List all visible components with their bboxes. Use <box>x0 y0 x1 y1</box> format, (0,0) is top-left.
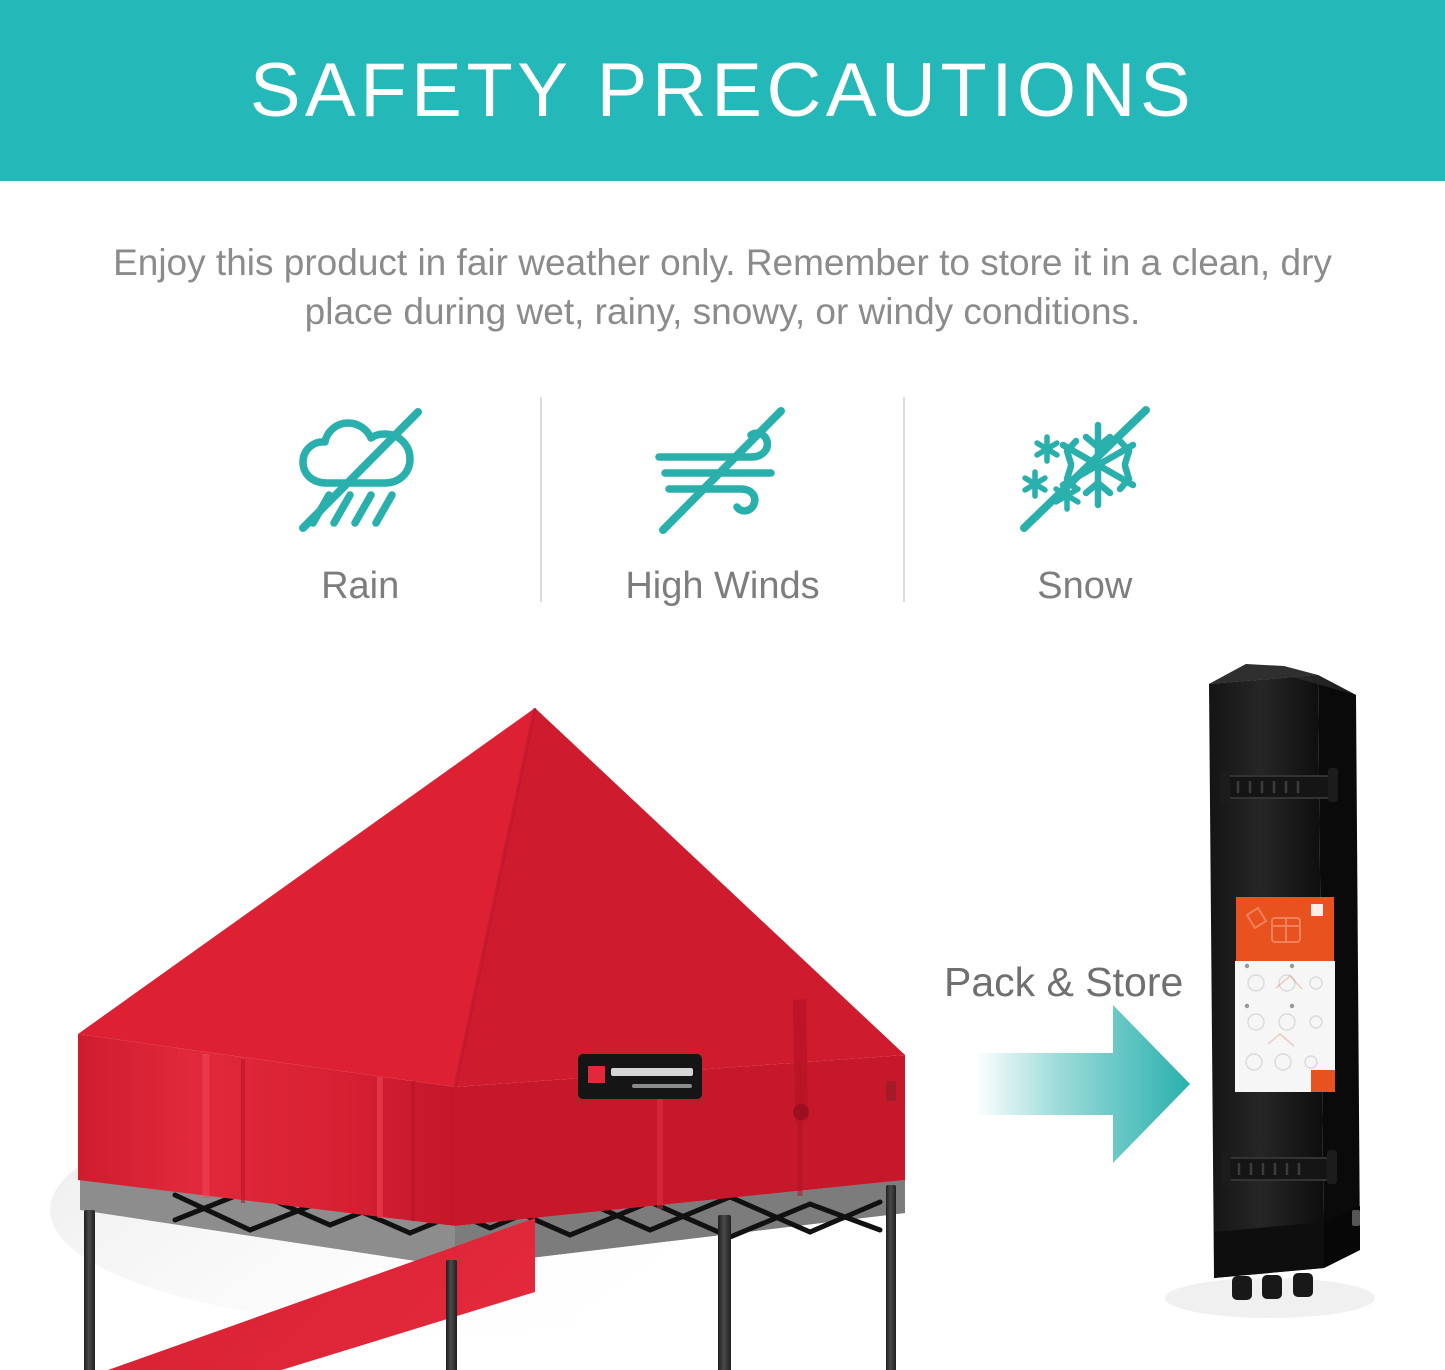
weather-label-rain: Rain <box>321 567 399 605</box>
scene-svg <box>0 650 1445 1370</box>
weather-item-snow: Snow <box>905 395 1265 605</box>
header-banner: SAFETY PRECAUTIONS <box>0 0 1445 181</box>
weather-conditions-row: Rain High Winds <box>180 395 1265 635</box>
bag-wheels <box>1232 1273 1313 1300</box>
weather-label-snow: Snow <box>1037 567 1132 605</box>
rain-cloud-slashed-icon <box>285 395 435 545</box>
weather-item-high-winds: High Winds <box>542 395 902 605</box>
canopy-corner-strap <box>793 999 808 1122</box>
weather-item-rain: Rain <box>180 395 540 605</box>
snowflake-slashed-icon <box>1010 395 1160 545</box>
intro-paragraph: Enjoy this product in fair weather only.… <box>0 238 1445 336</box>
product-scene <box>0 650 1445 1370</box>
pack-store-label: Pack & Store <box>944 962 1183 1003</box>
black-rolling-storage-bag <box>1165 664 1375 1318</box>
bag-product-label <box>1236 897 1334 961</box>
bag-zipper-pull <box>1352 1210 1360 1226</box>
page-title: SAFETY PRECAUTIONS <box>250 53 1195 129</box>
canopy-corner-grommet <box>793 1104 809 1120</box>
wind-slashed-icon <box>647 395 797 545</box>
weather-label-high-winds: High Winds <box>625 567 819 605</box>
pack-store-arrow <box>975 1005 1190 1163</box>
bag-instruction-panel <box>1235 961 1335 1092</box>
brand-logo-patch <box>578 1054 702 1099</box>
